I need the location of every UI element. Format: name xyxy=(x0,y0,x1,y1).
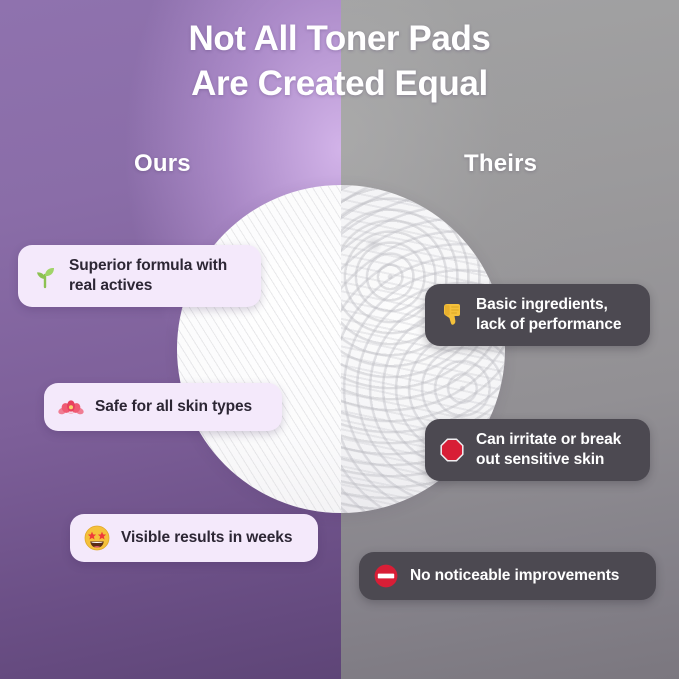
no-entry-icon xyxy=(373,563,399,589)
star-struck-face-icon xyxy=(84,525,110,551)
benefit-pill-ours-3: Visible results in weeks xyxy=(70,514,318,562)
drawback-pill-theirs-3: No noticeable improvements xyxy=(359,552,656,600)
page-title-line-1: Not All Toner Pads xyxy=(0,17,679,62)
drawback-pill-theirs-3-text: No noticeable improvements xyxy=(410,566,619,586)
comparison-infographic: Not All Toner Pads Are Created Equal Our… xyxy=(0,0,679,679)
benefit-pill-ours-1: Superior formula with real actives xyxy=(18,245,261,307)
drawback-pill-theirs-2: Can irritate or break out sensitive skin xyxy=(425,419,650,481)
pad-left-half-smooth-texture xyxy=(177,185,341,513)
drawback-pill-theirs-1-text: Basic ingredients, lack of performance xyxy=(476,295,633,335)
stop-sign-icon xyxy=(439,437,465,463)
benefit-pill-ours-3-text: Visible results in weeks xyxy=(121,528,292,548)
drawback-pill-theirs-2-text: Can irritate or break out sensitive skin xyxy=(476,430,633,470)
seedling-icon xyxy=(32,263,58,289)
page-title-line-2: Are Created Equal xyxy=(0,62,679,107)
page-title: Not All Toner Pads Are Created Equal xyxy=(0,17,679,107)
benefit-pill-ours-2-text: Safe for all skin types xyxy=(95,397,252,417)
thumbs-down-icon xyxy=(439,302,465,328)
benefit-pill-ours-1-text: Superior formula with real actives xyxy=(69,256,243,296)
column-header-theirs: Theirs xyxy=(464,150,537,178)
column-header-ours: Ours xyxy=(134,150,191,178)
drawback-pill-theirs-1: Basic ingredients, lack of performance xyxy=(425,284,650,346)
benefit-pill-ours-2: Safe for all skin types xyxy=(44,383,282,431)
lotus-icon xyxy=(58,394,84,420)
